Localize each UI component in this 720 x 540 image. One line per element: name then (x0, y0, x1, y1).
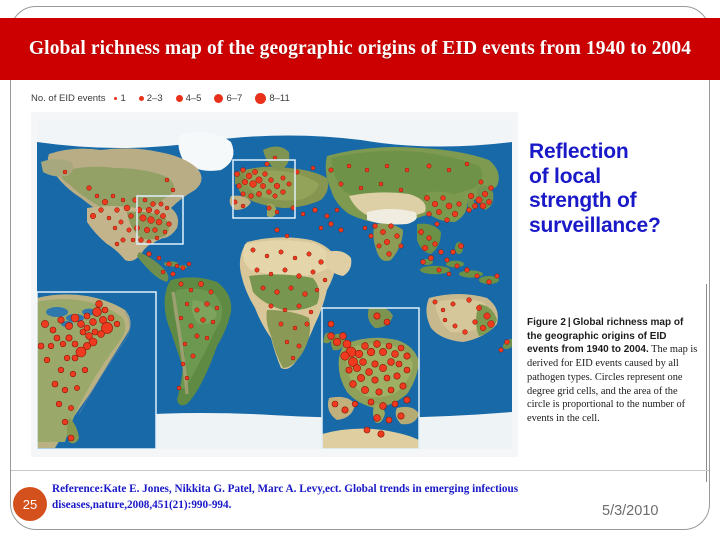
footer-divider (11, 470, 709, 471)
reference-text: Reference:Kate E. Jones, Nikkita G. Pate… (52, 482, 612, 514)
caption-divider (706, 284, 707, 482)
caption-separator: | (566, 317, 573, 328)
legend-item-3: 4–5 (176, 93, 202, 104)
legend-caption: 2–3 (147, 93, 163, 104)
inset-europe (322, 307, 419, 449)
figure-label: Figure 2 (527, 317, 566, 328)
map-legend: No. of EID events 1 2–3 4–5 6–7 8–11 (31, 89, 303, 107)
slide: Global richness map of the geographic or… (0, 0, 720, 540)
legend-dot-icon (114, 97, 117, 100)
title-banner: Global richness map of the geographic or… (0, 18, 720, 80)
legend-item-2: 2–3 (139, 93, 163, 104)
legend-dot-icon (139, 96, 144, 101)
legend-item-1: 1 (114, 93, 125, 104)
legend-item-4: 6–7 (214, 93, 242, 104)
pullquote-line-1: Reflection (529, 140, 715, 165)
legend-dot-icon (214, 94, 223, 103)
pullquote-line-2: of local (529, 165, 715, 190)
pullquote-line-3: strength of (529, 189, 715, 214)
richness-map-figure (31, 112, 518, 457)
legend-caption: 6–7 (226, 93, 242, 104)
legend-dot-icon (255, 93, 266, 104)
legend-item-5: 8–11 (255, 93, 289, 104)
legend-caption: 1 (120, 93, 125, 104)
pullquote-line-4: surveillance? (529, 214, 715, 239)
legend-caption: 8–11 (269, 93, 289, 104)
figure-caption: Figure 2 | Global richness map of the ge… (527, 316, 699, 426)
legend-label: No. of EID events (31, 93, 105, 104)
legend-dot-icon (176, 95, 183, 102)
pullquote: Reflection of local strength of surveill… (529, 140, 715, 238)
page-title: Global richness map of the geographic or… (3, 38, 717, 60)
slide-number-badge: 25 (13, 487, 47, 521)
map-canvas (37, 120, 517, 449)
inset-eastern-north-america (37, 292, 156, 449)
date-stamp: 5/3/2010 (602, 503, 658, 519)
legend-caption: 4–5 (186, 93, 202, 104)
caption-body: The map is derived for EID events caused… (527, 344, 697, 424)
world-richness-map (31, 112, 518, 457)
